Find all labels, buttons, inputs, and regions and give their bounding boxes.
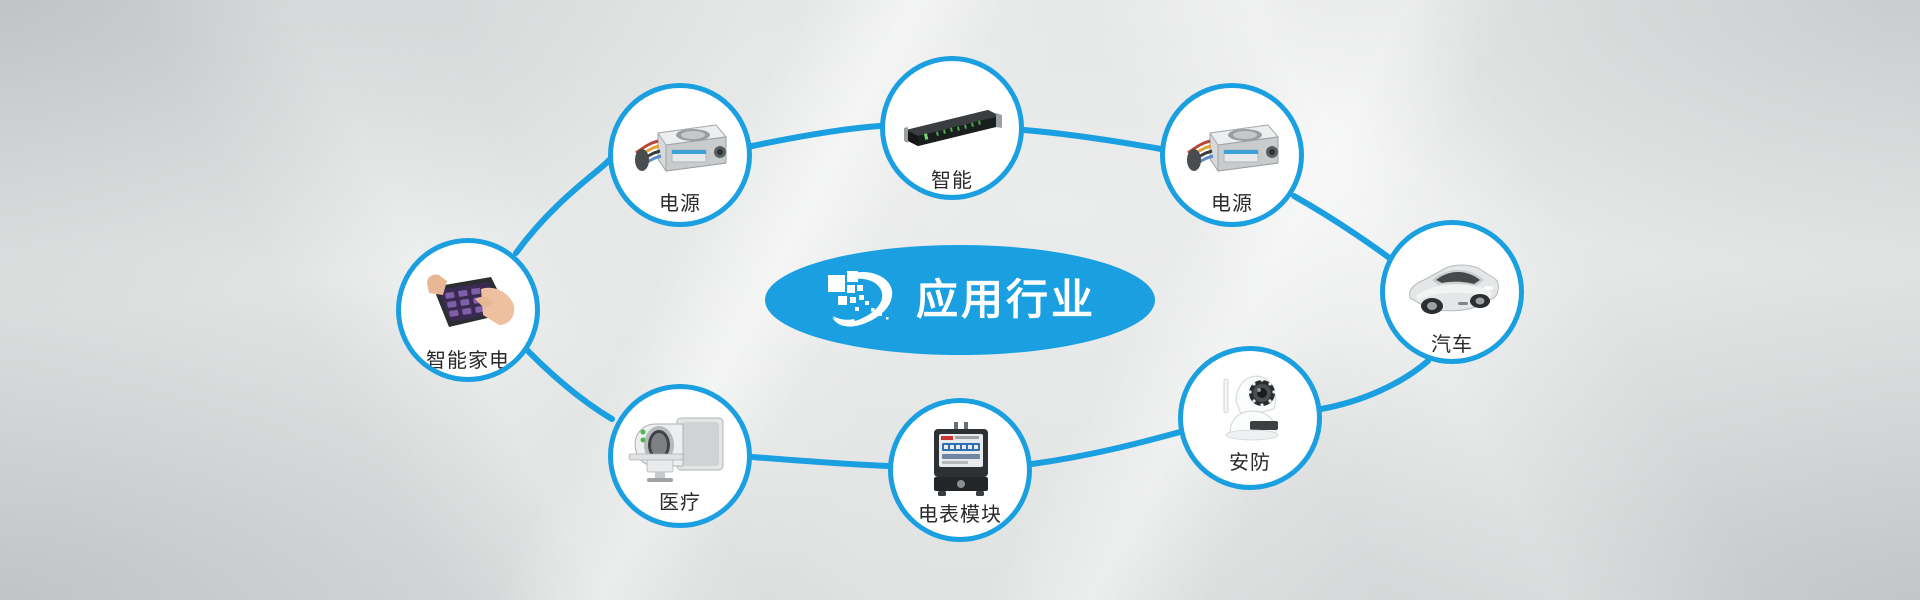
node-circle[interactable]: 安防	[1178, 346, 1322, 490]
power-supply-icon	[1165, 88, 1299, 194]
node-label: 医疗	[659, 493, 701, 513]
node-label: 智能	[931, 171, 973, 191]
node-label: 电源	[659, 194, 701, 214]
node-circle[interactable]: 电源	[1160, 83, 1304, 227]
sports-car-icon	[1385, 225, 1519, 335]
node-circle[interactable]: 电表模块	[888, 398, 1032, 542]
node-label: 汽车	[1431, 335, 1473, 355]
electric-meter-icon	[893, 403, 1027, 505]
node-circle[interactable]: 电源	[608, 83, 752, 227]
banner-stage: 电源	[0, 0, 1920, 600]
tablet-touch-icon	[401, 243, 535, 351]
connector-security-to-meter	[1032, 432, 1180, 464]
connector-powerright-to-automotive	[1294, 196, 1400, 266]
node-circle[interactable]: 医疗	[608, 384, 752, 528]
connector-intelligent-to-powerright	[1024, 130, 1161, 149]
pixel-swoosh-logo-icon	[824, 267, 900, 333]
connector-meter-to-medical	[752, 457, 888, 466]
center-badge-title: 应用行业	[916, 279, 1096, 321]
node-label: 电表模块	[918, 505, 1002, 525]
node-label: 安防	[1229, 453, 1271, 473]
node-circle[interactable]: 汽车	[1380, 220, 1524, 364]
connector-powerleft-to-intelligent	[752, 126, 880, 146]
connector-smarthome-to-powerleft	[516, 160, 609, 253]
connector-automotive-to-security	[1321, 361, 1428, 409]
ct-scanner-icon	[613, 389, 747, 493]
center-badge[interactable]: 应用行业	[765, 245, 1155, 355]
node-circle[interactable]: 智能	[880, 56, 1024, 200]
power-supply-icon	[613, 88, 747, 194]
node-label: 电源	[1211, 194, 1253, 214]
ip-camera-icon	[1183, 351, 1317, 453]
rack-server-icon	[885, 61, 1019, 171]
node-circle[interactable]: 智能家电	[396, 238, 540, 382]
node-label: 智能家电	[426, 351, 510, 371]
